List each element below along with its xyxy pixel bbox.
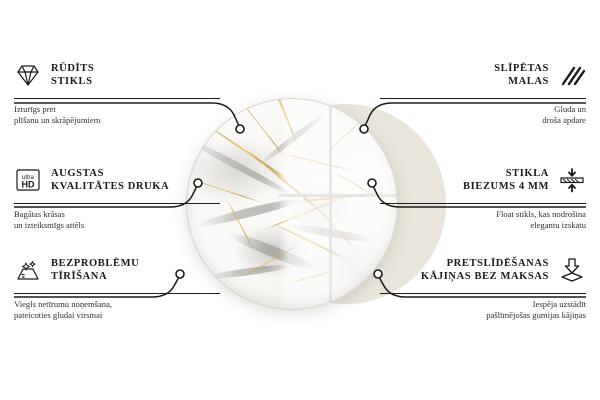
polished-edge-icon: [558, 61, 586, 89]
sponge-sparkle-icon: [14, 256, 42, 284]
divider: [380, 98, 586, 99]
feature-title: AUGSTAS KVALITĀTES DRUKA: [51, 167, 169, 193]
feature-header: BEZPROBLĒMU TĪRĪŠANA: [14, 253, 220, 287]
feature-description: Float stikls, kas nodrošina elegantu izs…: [380, 209, 586, 232]
feature-description: Gluda un droša apdare: [380, 104, 586, 127]
feature-header: PRETSLĪDĒŠANAS KĀJIŅAS BEZ MAKSAS: [380, 253, 586, 287]
feature-title: STIKLA BIEZUMS 4 MM: [463, 167, 549, 193]
divider: [380, 293, 586, 294]
divider: [14, 293, 220, 294]
feature-print-quality: ultra HD AUGSTAS KVALITĀTES DRUKA Bagāta…: [14, 163, 220, 232]
feature-header: RŪDĪTS STIKLS: [14, 58, 220, 92]
feature-description: Bagātas krāsas un izteiksmīgs attēls: [14, 209, 220, 232]
infographic-canvas: RŪDĪTS STIKLS Izturīgs pret plīšanu un s…: [0, 0, 600, 400]
feature-title: PRETSLĪDĒŠANAS KĀJIŅAS BEZ MAKSAS: [421, 257, 549, 283]
feature-description: Izturīgs pret plīšanu un skrāpējumiem: [14, 104, 220, 127]
divider: [14, 98, 220, 99]
feature-header: ultra HD AUGSTAS KVALITĀTES DRUKA: [14, 163, 220, 197]
svg-text:HD: HD: [22, 180, 35, 190]
feature-title: BEZPROBLĒMU TĪRĪŠANA: [51, 257, 139, 283]
feature-tempered-glass: RŪDĪTS STIKLS Izturīgs pret plīšanu un s…: [14, 58, 220, 127]
feature-title: RŪDĪTS STIKLS: [51, 62, 94, 88]
diamond-icon: [14, 61, 42, 89]
feature-polished-edges: SLĪPĒTAS MALAS Gluda un droša apdare: [380, 58, 586, 127]
feature-easy-cleaning: BEZPROBLĒMU TĪRĪŠANA Viegls netīrumu noņ…: [14, 253, 220, 322]
thickness-arrows-icon: [558, 166, 586, 194]
feature-header: STIKLA BIEZUMS 4 MM: [380, 163, 586, 197]
anti-slip-foot-icon: [558, 256, 586, 284]
feature-header: SLĪPĒTAS MALAS: [380, 58, 586, 92]
divider: [14, 203, 220, 204]
feature-anti-slip-feet: PRETSLĪDĒŠANAS KĀJIŅAS BEZ MAKSAS Iespēj…: [380, 253, 586, 322]
feature-description: Iespēja uzstādīt pašlīmējošas gumijas kā…: [380, 299, 586, 322]
divider: [380, 203, 586, 204]
feature-title: SLĪPĒTAS MALAS: [494, 62, 549, 88]
ultra-hd-icon: ultra HD: [14, 166, 42, 194]
feature-glass-thickness: STIKLA BIEZUMS 4 MM Float stikls, kas no…: [380, 163, 586, 232]
feature-description: Viegls netīrumu noņemšana, pateicoties g…: [14, 299, 220, 322]
